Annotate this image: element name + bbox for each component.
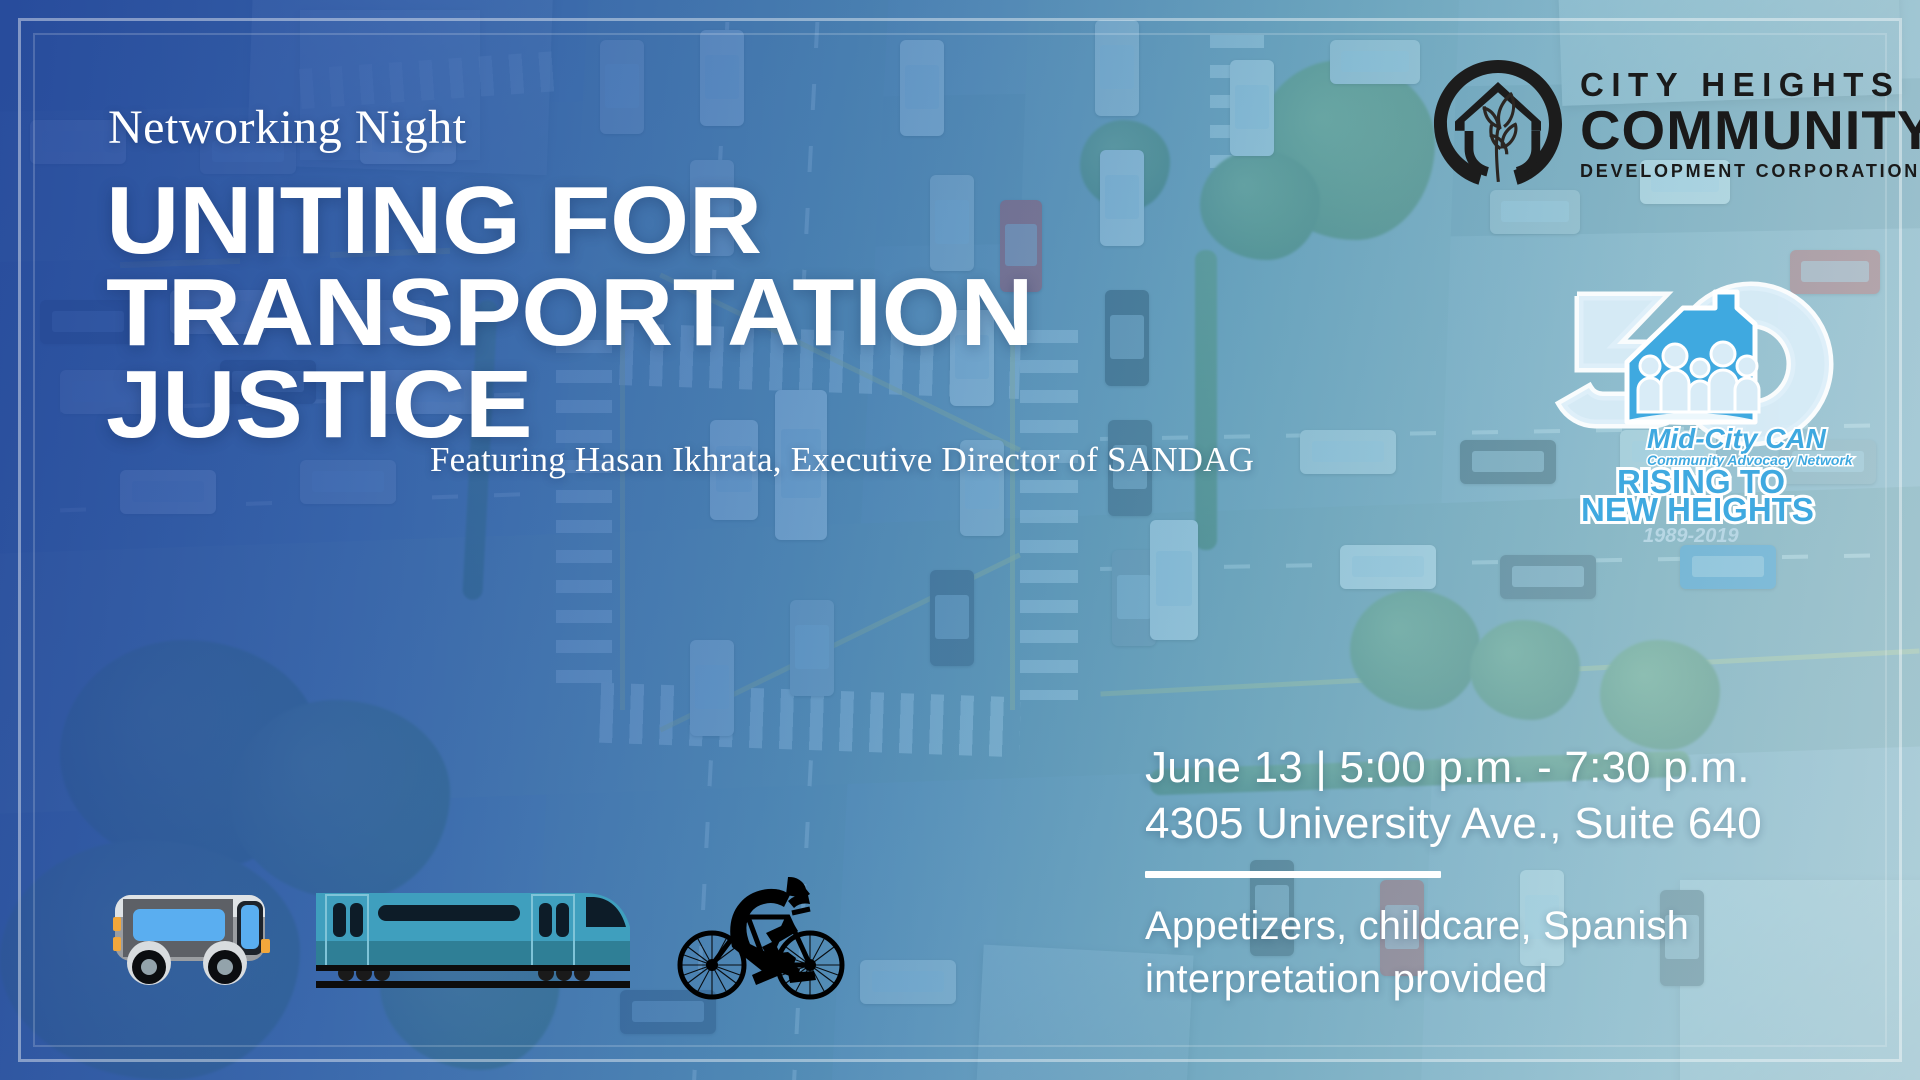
event-note-line-2: interpretation provided [1145, 953, 1865, 1007]
cdc-line-3: DEVELOPMENT CORPORATION [1580, 162, 1920, 180]
event-note-line-1: Appetizers, childcare, Spanish [1145, 900, 1865, 954]
event-flyer: Networking Night UNITING FOR TRANSPORTAT… [0, 0, 1920, 1080]
featuring-speaker-text: Featuring Hasan Ikhrata, Executive Direc… [430, 440, 1254, 480]
divider-rule [1145, 871, 1441, 878]
event-address: 4305 University Ave., Suite 640 [1145, 796, 1865, 852]
cdc-line-2: COMMUNITY [1580, 103, 1920, 158]
house-plant-logo-icon [1432, 58, 1564, 190]
headline-line-1: UNITING FOR [106, 167, 762, 274]
event-details-block: June 13 | 5:00 p.m. - 7:30 p.m. 4305 Uni… [1145, 740, 1865, 1007]
cyclist-icon [670, 855, 850, 1005]
event-datetime: June 13 | 5:00 p.m. - 7:30 p.m. [1145, 740, 1865, 796]
trolley-train-icon [310, 865, 640, 1000]
slogan-line-2: NEW HEIGHTS [1581, 491, 1814, 528]
cdc-line-1: CITY HEIGHTS [1580, 68, 1920, 101]
bus-icon [105, 877, 285, 997]
headline-line-2: TRANSPORTATION JUSTICE [106, 267, 1463, 451]
eyebrow-text: Networking Night [108, 100, 467, 155]
page-title: UNITING FOR TRANSPORTATION JUSTICE [106, 175, 1463, 451]
mid-city-can-30th-anniversary-logo: Mid-City CAN Community Advocacy Network … [1555, 272, 1845, 532]
city-heights-cdc-logo: CITY HEIGHTS COMMUNITY DEVELOPMENT CORPO… [1432, 58, 1920, 190]
transit-mode-icons [105, 855, 835, 1015]
anniversary-years: 1989-2019 [1643, 525, 1740, 547]
mid-city-can-name: Mid-City CAN [1647, 423, 1827, 454]
city-heights-cdc-wordmark: CITY HEIGHTS COMMUNITY DEVELOPMENT CORPO… [1580, 68, 1920, 180]
